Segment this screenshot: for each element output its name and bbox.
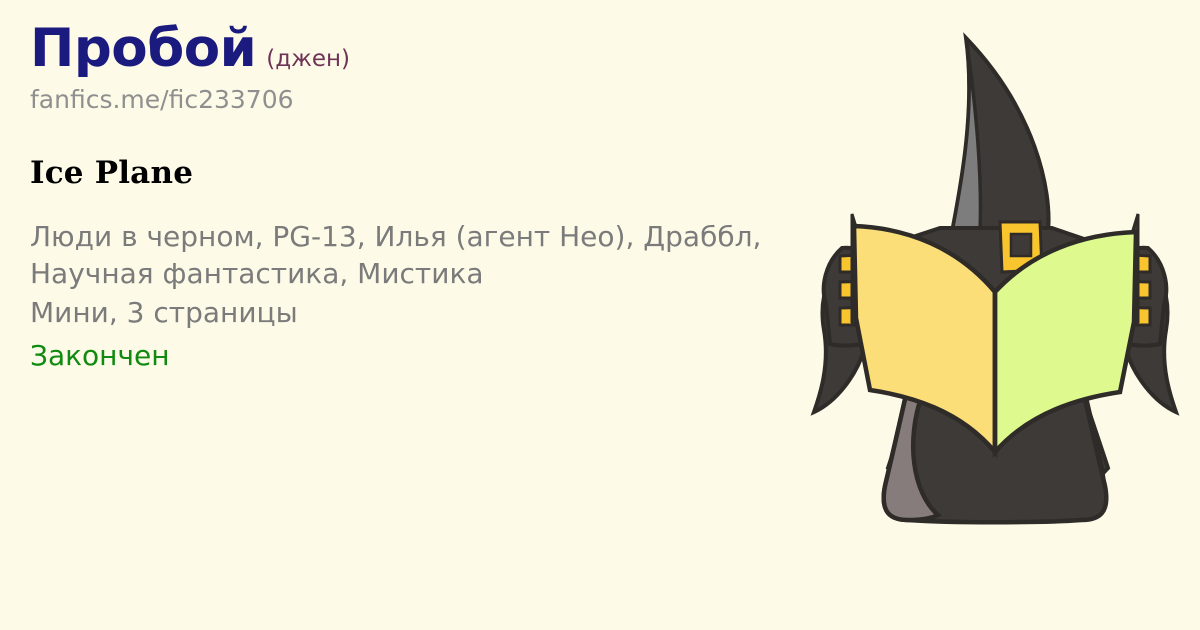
figure xyxy=(814,38,1176,522)
wizard-reading-book-svg xyxy=(790,0,1200,630)
buckle-inner-hole xyxy=(1011,234,1031,256)
site-title-row: Пробой(джен) xyxy=(30,22,820,75)
fanfic-text-column: Пробой(джен) fanfics.me/fic233706 Ice Pl… xyxy=(30,22,820,375)
fic-tags: Люди в черном, PG-13, Илья (агент Нео), … xyxy=(30,218,790,292)
fic-title-heading: Ice Plane xyxy=(30,156,820,190)
fic-category-label: (джен) xyxy=(266,46,350,72)
site-title: Пробой xyxy=(30,18,256,79)
wizard-reading-book-illustration xyxy=(790,0,1200,630)
fic-url[interactable]: fanfics.me/fic233706 xyxy=(30,86,820,114)
fic-status-badge: Закончен xyxy=(30,337,820,374)
fic-size: Мини, 3 страницы xyxy=(30,294,820,331)
fanfic-preview-card: Пробой(джен) fanfics.me/fic233706 Ice Pl… xyxy=(0,0,1200,630)
